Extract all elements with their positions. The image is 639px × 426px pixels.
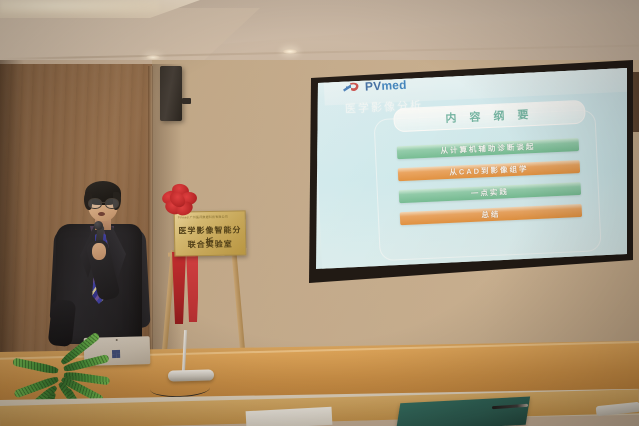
slide-content: PVmed医影智能 医学影像分析 内 容 纲 要 从计算机辅助诊断谈起 从CAD… — [313, 66, 627, 269]
agenda-label-4: 总结 — [481, 209, 500, 221]
left-wall-shadow — [0, 60, 24, 360]
slide-title: 内 容 纲 要 — [445, 106, 534, 126]
cove-light-glow — [0, 0, 160, 14]
presentation-photo-scene: PVmed医影智能 医学影像分析 内 容 纲 要 从计算机辅助诊断谈起 从CAD… — [0, 0, 639, 426]
downlight-icon — [283, 49, 297, 54]
logo-text-suffix: med — [381, 78, 407, 93]
pvmed-logo-mark-icon — [342, 80, 363, 94]
red-ribbon-flower-icon — [160, 183, 198, 219]
agenda-label-2: 从CAD到影像组学 — [449, 163, 529, 178]
webcam-icon — [116, 339, 118, 341]
paper-sheet — [246, 407, 333, 426]
hand — [92, 243, 106, 260]
glasses-icon — [88, 198, 118, 207]
wall-speaker-icon — [160, 66, 182, 121]
arm-left — [48, 299, 77, 347]
speaker-bracket-icon — [182, 98, 191, 104]
mouth — [98, 212, 105, 216]
microphone-head-icon — [94, 221, 103, 230]
logo-text-prefix: PV — [365, 79, 382, 94]
projection-screen[interactable]: PVmed医影智能 医学影像分析 内 容 纲 要 从计算机辅助诊断谈起 从CAD… — [313, 66, 627, 269]
plaque-line-2: 联合实验室 — [175, 238, 245, 250]
agenda-label-3: 一点实践 — [471, 186, 509, 199]
